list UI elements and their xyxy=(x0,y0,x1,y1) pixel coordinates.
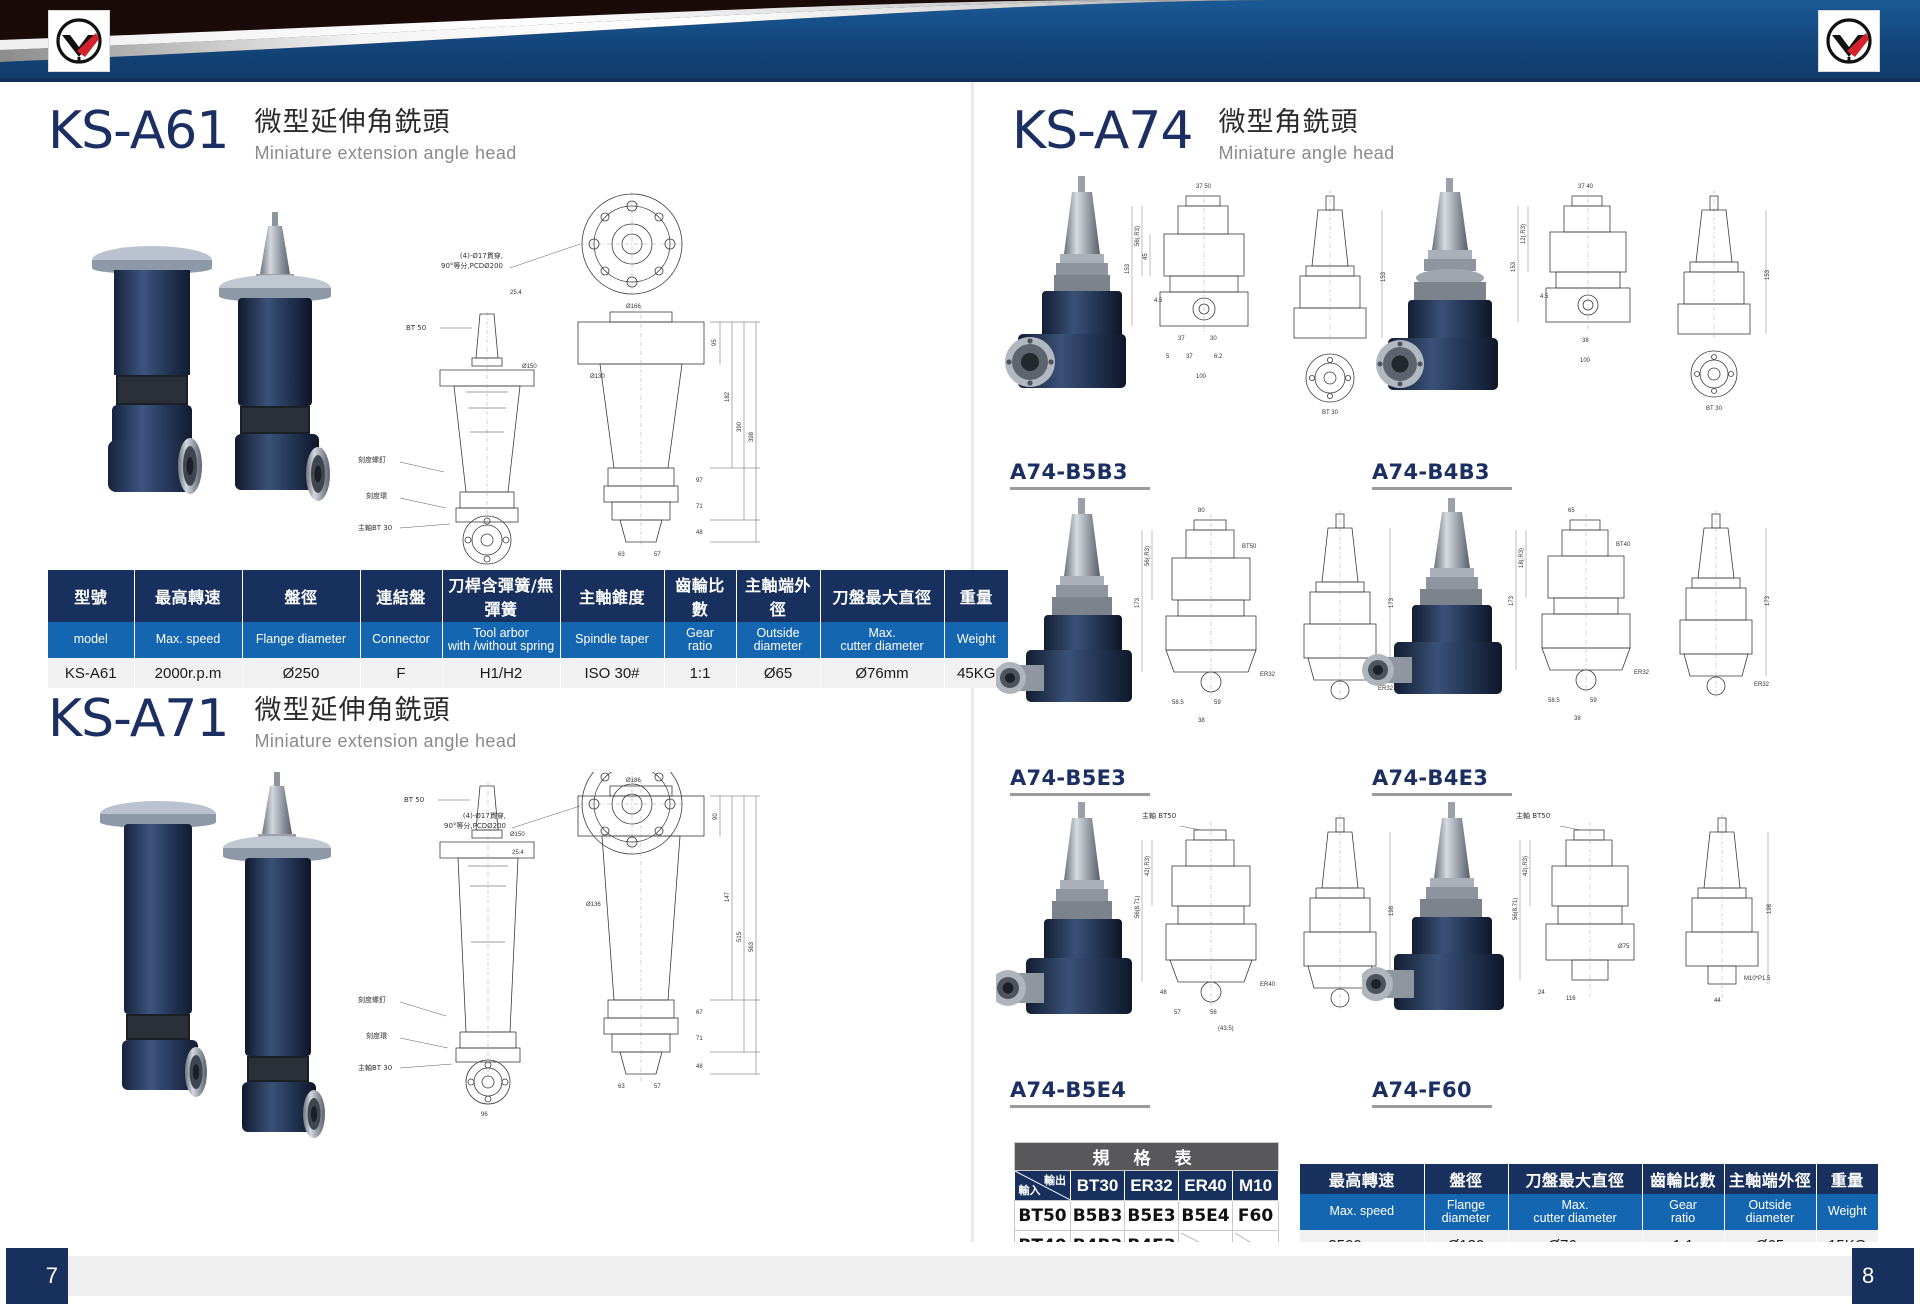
left-page: KS-A61 微型延伸角銑頭 Miniature extension angle… xyxy=(0,82,972,1242)
flange-note-a71: (4)-Ø17貫穿, 90°等分,PCDØ200 25.4 xyxy=(444,806,580,856)
combo-title: 規 格 表 xyxy=(1015,1143,1279,1171)
svg-text:38: 38 xyxy=(1198,718,1205,724)
cell-tool-arbor: H1/H2 xyxy=(442,658,560,688)
svg-text:38: 38 xyxy=(1582,338,1589,344)
caption-underline xyxy=(1010,1105,1150,1108)
svg-text:18(.R3): 18(.R3) xyxy=(1519,548,1525,568)
product-photo xyxy=(1005,176,1126,388)
svg-text:71: 71 xyxy=(696,504,703,510)
combo-cell: B5E3 xyxy=(1125,1201,1179,1231)
svg-text:63: 63 xyxy=(618,1084,625,1090)
svg-text:4.5: 4.5 xyxy=(1154,298,1163,304)
section-drawing-a61: BT 50 Ø150 刻度螺釘 刻度環 xyxy=(358,312,537,578)
second-view: 198 M10*P1.5 44 xyxy=(1686,814,1773,1004)
svg-text:147: 147 xyxy=(725,891,731,902)
svg-text:63: 63 xyxy=(618,552,625,558)
svg-text:BT40: BT40 xyxy=(1616,542,1631,548)
col-cn-gear-ratio: 齒輪比數 xyxy=(1642,1164,1724,1194)
col-cn-model: 型號 xyxy=(48,570,134,622)
col-en-gear-ratio: Gear ratio xyxy=(1642,1194,1724,1230)
svg-text:56(.R3): 56(.R3) xyxy=(1135,226,1141,246)
svg-text:153: 153 xyxy=(1765,269,1771,280)
combo-corner-cell: 輸出 輸入 xyxy=(1015,1171,1071,1201)
svg-text:42(.R3): 42(.R3) xyxy=(1523,856,1529,876)
col-cn-tool-arbor: 刀桿含彈簧/無彈簧 xyxy=(442,570,560,622)
table-row: KS-A61 2000r.p.m Ø250 F H1/H2 ISO 30# 1:… xyxy=(48,658,1008,688)
svg-text:刻度環: 刻度環 xyxy=(366,1031,387,1040)
product-code: KS-A74 xyxy=(1012,104,1192,158)
model-caption-a74-b5e3: A74-B5E3 xyxy=(1010,766,1150,796)
section-drawing-a71: BT 50 Ø150 刻度螺釘 刻度環 xyxy=(358,782,534,1118)
svg-text:M10*P1.5: M10*P1.5 xyxy=(1744,976,1771,982)
product-heading-ks-a61: KS-A61 微型延伸角銑頭 Miniature extension angle… xyxy=(48,104,517,165)
svg-text:30: 30 xyxy=(1210,336,1217,342)
svg-text:48: 48 xyxy=(696,530,703,536)
col-cn-outside-dia: 主軸端外徑 xyxy=(736,570,820,622)
model-caption-a74-f60: A74-F60 xyxy=(1372,1078,1492,1108)
svg-text:198: 198 xyxy=(1767,903,1773,914)
cell-gear-ratio: 1:1 xyxy=(664,658,736,688)
svg-text:58.5: 58.5 xyxy=(1548,698,1560,704)
svg-text:563: 563 xyxy=(749,941,755,952)
cell-connector: F xyxy=(360,658,442,688)
col-en-max-speed: Max. speed xyxy=(134,622,242,658)
combo-row-input: BT50 xyxy=(1015,1201,1071,1231)
svg-text:182: 182 xyxy=(725,391,731,402)
col-cn-gear-ratio: 齒輪比數 xyxy=(664,570,736,622)
svg-text:90: 90 xyxy=(713,813,719,820)
col-cn-flange-dia: 盤徑 xyxy=(1424,1164,1508,1194)
svg-text:4.5: 4.5 xyxy=(1540,294,1549,300)
product-photo xyxy=(996,802,1132,1014)
product-name-cn: 微型角銑頭 xyxy=(1218,108,1394,138)
col-en-spindle-taper: Spindle taper xyxy=(560,622,664,658)
svg-text:90°等分,PCDØ200: 90°等分,PCDØ200 xyxy=(444,821,506,830)
page-footer: 7 8 xyxy=(0,1242,1920,1311)
table-header-row-cn: 最高轉速 盤徑 刀盤最大直徑 齒輪比數 主軸端外徑 重量 xyxy=(1300,1164,1878,1194)
col-en-flange-dia: Flange diameter xyxy=(242,622,360,658)
svg-text:25.4: 25.4 xyxy=(510,290,522,296)
elevation-drawing-a71: Ø186 Ø136 90 147 xyxy=(578,778,760,1090)
col-en-model: model xyxy=(48,622,134,658)
col-cn-flange-dia: 盤徑 xyxy=(242,570,360,622)
col-en-outside-dia: Outside diameter xyxy=(1724,1194,1816,1230)
flange-note-a61: (4)-Ø17貫穿, 90°等分,PCDØ200 25.4 xyxy=(441,244,580,296)
dimension-drawing: 主軸 BT50 42(.R3) 56(8.71) 116 24 Ø75 xyxy=(1513,811,1634,1002)
product-name-en: Miniature extension angle head xyxy=(254,729,516,753)
svg-text:95: 95 xyxy=(712,339,718,346)
combo-title-row: 規 格 表 xyxy=(1015,1143,1279,1171)
dimension-drawing: 37 50 56(.R3) 153 45 4.5 37 xyxy=(1125,184,1248,380)
svg-text:ER40: ER40 xyxy=(1260,982,1276,988)
model-artwork-a74-b4e3: 65 BT40 ER32 18(.R3) 173 58.5 59 xyxy=(1362,490,1822,770)
svg-text:Ø150: Ø150 xyxy=(522,364,537,370)
flange-top-view-a71 xyxy=(580,772,684,856)
elevation-drawing-a61: Ø166 Ø130 95 182 xyxy=(578,304,760,558)
dimension-drawing: 主軸 BT50 ER40 42(.R3) 56(8.71) 57 56 xyxy=(1135,811,1276,1032)
product-photo xyxy=(1376,178,1498,390)
product-code: KS-A61 xyxy=(48,104,228,158)
svg-text:80: 80 xyxy=(1198,508,1205,514)
svg-text:主軸BT 30: 主軸BT 30 xyxy=(358,1063,392,1072)
combo-col-er40: ER40 xyxy=(1179,1171,1233,1201)
page-number-right: 8 xyxy=(1852,1248,1914,1304)
svg-text:(4)-Ø17貫穿,: (4)-Ø17貫穿, xyxy=(460,251,503,260)
col-en-max-cutter: Max. cutter diameter xyxy=(1508,1194,1642,1230)
svg-text:65: 65 xyxy=(1568,508,1575,514)
svg-text:398: 398 xyxy=(749,431,755,442)
model-caption-a74-b5b3: A74-B5B3 xyxy=(1010,460,1150,490)
svg-text:90°等分,PCDØ200: 90°等分,PCDØ200 xyxy=(441,261,503,270)
svg-text:116: 116 xyxy=(1566,996,1576,1002)
svg-text:45: 45 xyxy=(1143,253,1149,260)
col-en-connector: Connector xyxy=(360,622,442,658)
product-photo xyxy=(1362,498,1502,694)
model-caption-a74-b4b3: A74-B4B3 xyxy=(1372,460,1512,490)
svg-text:ER32: ER32 xyxy=(1260,672,1276,678)
second-view: 173 ER32 xyxy=(1680,510,1771,698)
svg-text:Ø150: Ø150 xyxy=(510,832,525,838)
svg-text:100: 100 xyxy=(1196,374,1207,380)
svg-text:Ø166: Ø166 xyxy=(626,304,641,310)
col-cn-connector: 連結盤 xyxy=(360,570,442,622)
model-label: A74-B5E4 xyxy=(1010,1078,1150,1102)
dimension-drawing: 80 BT50 ER32 56(.R3) 173 58.5 59 xyxy=(1135,508,1276,724)
combo-col-bt30: BT30 xyxy=(1071,1171,1125,1201)
svg-text:173: 173 xyxy=(1509,595,1515,606)
company-logo xyxy=(48,10,110,72)
cell-max-cutter: Ø76mm xyxy=(820,658,944,688)
combo-col-m10: M10 xyxy=(1233,1171,1279,1201)
svg-text:48: 48 xyxy=(696,1064,703,1070)
svg-text:主軸 BT50: 主軸 BT50 xyxy=(1142,811,1176,820)
svg-text:刻度環: 刻度環 xyxy=(366,491,387,500)
svg-text:56(.R3): 56(.R3) xyxy=(1145,546,1151,566)
svg-text:ER32: ER32 xyxy=(1634,670,1650,676)
col-en-max-cutter: Max. cutter diameter xyxy=(820,622,944,658)
svg-text:96: 96 xyxy=(481,1112,488,1118)
svg-text:56(8.71): 56(8.71) xyxy=(1513,898,1519,920)
svg-text:5: 5 xyxy=(1166,354,1170,360)
svg-text:57: 57 xyxy=(654,552,661,558)
product-code: KS-A71 xyxy=(48,692,228,746)
model-caption-a74-b5e4: A74-B5E4 xyxy=(1010,1078,1150,1108)
svg-text:48: 48 xyxy=(1160,990,1167,996)
combo-cell: F60 xyxy=(1233,1201,1279,1231)
model-label: A74-B5E3 xyxy=(1010,766,1150,790)
svg-text:58.5: 58.5 xyxy=(1172,700,1184,706)
svg-text:37: 37 xyxy=(1178,336,1185,342)
model-label: A74-F60 xyxy=(1372,1078,1492,1102)
svg-text:100: 100 xyxy=(1580,358,1591,364)
footer-bar xyxy=(60,1256,1860,1296)
svg-text:主軸BT 30: 主軸BT 30 xyxy=(358,523,392,532)
product-photo-a71-1 xyxy=(100,801,216,1097)
second-view: 153 BT 30 xyxy=(1678,190,1771,412)
product-photo-a61-1 xyxy=(92,246,212,494)
product-photo-a61-2 xyxy=(219,212,331,501)
col-en-tool-arbor: Tool arbor with /without spring xyxy=(442,622,560,658)
svg-text:Ø186: Ø186 xyxy=(626,778,641,784)
svg-text:59: 59 xyxy=(1590,698,1597,704)
svg-text:ER32: ER32 xyxy=(1754,682,1770,688)
cell-spindle-taper: ISO 30# xyxy=(560,658,664,688)
svg-text:12(.R3): 12(.R3) xyxy=(1521,224,1527,244)
svg-text:6.2: 6.2 xyxy=(1214,354,1223,360)
svg-text:24: 24 xyxy=(1538,990,1545,996)
dimension-drawing: 65 BT40 ER32 18(.R3) 173 58.5 59 xyxy=(1509,508,1650,722)
col-cn-spindle-taper: 主軸錐度 xyxy=(560,570,664,622)
cell-max-speed: 2000r.p.m xyxy=(134,658,242,688)
col-en-outside-dia: Outside diameter xyxy=(736,622,820,658)
svg-text:173: 173 xyxy=(1135,597,1141,608)
svg-text:37: 37 xyxy=(1186,354,1193,360)
model-label: A74-B5B3 xyxy=(1010,460,1150,484)
ks-a61-artwork: (4)-Ø17貫穿, 90°等分,PCDØ200 25.4 BT 50 xyxy=(40,182,940,622)
combo-col-er32: ER32 xyxy=(1125,1171,1179,1201)
col-cn-outside-dia: 主軸端外徑 xyxy=(1724,1164,1816,1194)
svg-text:515: 515 xyxy=(737,931,743,942)
product-photo-a71-2 xyxy=(223,772,331,1138)
svg-text:(4)-Ø17貫穿,: (4)-Ø17貫穿, xyxy=(463,811,506,820)
model-artwork-a74-b4b3: 37 40 12(.R3) 153 4.5 38 100 xyxy=(1362,162,1822,452)
col-en-max-speed: Max. speed xyxy=(1300,1194,1424,1230)
svg-text:37 40: 37 40 xyxy=(1578,184,1594,190)
combo-cell: B5B3 xyxy=(1071,1201,1125,1231)
svg-text:(43.5): (43.5) xyxy=(1218,1026,1234,1032)
col-cn-max-speed: 最高轉速 xyxy=(134,570,242,622)
combo-input-label: 輸入 xyxy=(1019,1182,1041,1198)
product-name-cn: 微型延伸角銑頭 xyxy=(254,696,516,726)
svg-text:56(8.71): 56(8.71) xyxy=(1135,896,1141,918)
combo-cell: B5E4 xyxy=(1179,1201,1233,1231)
svg-text:BT 50: BT 50 xyxy=(404,796,424,804)
svg-text:97: 97 xyxy=(696,478,703,484)
svg-text:刻度螺釘: 刻度螺釘 xyxy=(358,455,386,464)
col-en-gear-ratio: Gear ratio xyxy=(664,622,736,658)
svg-text:37 50: 37 50 xyxy=(1196,184,1212,190)
svg-text:BT 30: BT 30 xyxy=(1322,410,1339,416)
ks-a61-spec-table: 型號 最高轉速 盤徑 連結盤 刀桿含彈簧/無彈簧 主軸錐度 齒輪比數 主軸端外徑… xyxy=(48,570,1008,688)
flange-top-view-a61 xyxy=(580,192,684,296)
svg-text:59: 59 xyxy=(1214,700,1221,706)
svg-text:主軸 BT50: 主軸 BT50 xyxy=(1516,811,1550,820)
cell-model: KS-A61 xyxy=(48,658,134,688)
table-header-row-en: model Max. speed Flange diameter Connect… xyxy=(48,622,1008,658)
product-name-en: Miniature extension angle head xyxy=(254,141,516,165)
svg-text:57: 57 xyxy=(1174,1010,1181,1016)
product-photo xyxy=(996,498,1132,702)
dimension-drawing: 37 40 12(.R3) 153 4.5 38 100 xyxy=(1511,184,1630,364)
company-logo xyxy=(1818,10,1880,72)
table-row: BT50 B5B3 B5E3 B5E4 F60 xyxy=(1015,1201,1279,1231)
svg-text:Ø75: Ø75 xyxy=(1618,944,1630,950)
col-cn-weight: 重量 xyxy=(1816,1164,1878,1194)
product-photo xyxy=(1362,802,1504,1010)
combo-header-row: 輸出 輸入 BT30 ER32 ER40 M10 xyxy=(1015,1171,1279,1201)
company-logo-icon xyxy=(55,17,103,65)
model-label: A74-B4B3 xyxy=(1372,460,1512,484)
page-banner xyxy=(0,0,1920,82)
banner-swoosh xyxy=(0,0,1920,82)
svg-text:153: 153 xyxy=(1125,263,1131,274)
svg-text:57: 57 xyxy=(654,1084,661,1090)
svg-text:71: 71 xyxy=(696,1036,703,1042)
svg-text:Ø130: Ø130 xyxy=(590,374,605,380)
product-name-cn: 微型延伸角銑頭 xyxy=(254,108,516,138)
col-en-weight: Weight xyxy=(1816,1194,1878,1230)
svg-text:BT 30: BT 30 xyxy=(1706,406,1723,412)
model-artwork-a74-f60: 主軸 BT50 42(.R3) 56(8.71) 116 24 Ø75 xyxy=(1362,794,1822,1084)
svg-text:390: 390 xyxy=(737,421,743,432)
table-header-row-cn: 型號 最高轉速 盤徑 連結盤 刀桿含彈簧/無彈簧 主軸錐度 齒輪比數 主軸端外徑… xyxy=(48,570,1008,622)
svg-text:56: 56 xyxy=(1210,1010,1217,1016)
col-cn-max-speed: 最高轉速 xyxy=(1300,1164,1424,1194)
right-page: KS-A74 微型角銑頭 Miniature angle head xyxy=(972,82,1920,1242)
col-en-flange-dia: Flange diameter xyxy=(1424,1194,1508,1230)
company-logo-icon xyxy=(1825,17,1873,65)
svg-text:67: 67 xyxy=(696,1010,703,1016)
model-label: A74-B4E3 xyxy=(1372,766,1512,790)
svg-text:25.4: 25.4 xyxy=(512,850,524,856)
svg-text:44: 44 xyxy=(1714,998,1721,1004)
svg-text:刻度螺釘: 刻度螺釘 xyxy=(358,995,386,1004)
col-cn-max-cutter: 刀盤最大直徑 xyxy=(820,570,944,622)
svg-text:BT50: BT50 xyxy=(1242,544,1257,550)
col-cn-max-cutter: 刀盤最大直徑 xyxy=(1508,1164,1642,1194)
svg-text:42(.R3): 42(.R3) xyxy=(1145,856,1151,876)
page-number-left: 7 xyxy=(6,1248,68,1304)
cell-flange-dia: Ø250 xyxy=(242,658,360,688)
model-caption-a74-b4e3: A74-B4E3 xyxy=(1372,766,1512,796)
svg-text:38: 38 xyxy=(1574,716,1581,722)
caption-underline xyxy=(1372,1105,1492,1108)
product-heading-ks-a71: KS-A71 微型延伸角銑頭 Miniature extension angle… xyxy=(48,692,517,753)
svg-text:Ø136: Ø136 xyxy=(586,902,601,908)
table-header-row-en: Max. speed Flange diameter Max. cutter d… xyxy=(1300,1194,1878,1230)
svg-text:BT 50: BT 50 xyxy=(406,324,426,332)
cell-outside-dia: Ø65 xyxy=(736,658,820,688)
svg-text:153: 153 xyxy=(1511,261,1517,272)
product-heading-ks-a74: KS-A74 微型角銑頭 Miniature angle head xyxy=(1012,104,1395,165)
ks-a71-artwork: (4)-Ø17貫穿, 90°等分,PCDØ200 25.4 BT 50 Ø150 xyxy=(40,772,940,1222)
svg-text:173: 173 xyxy=(1765,595,1771,606)
combo-output-label: 輸出 xyxy=(1044,1172,1066,1188)
